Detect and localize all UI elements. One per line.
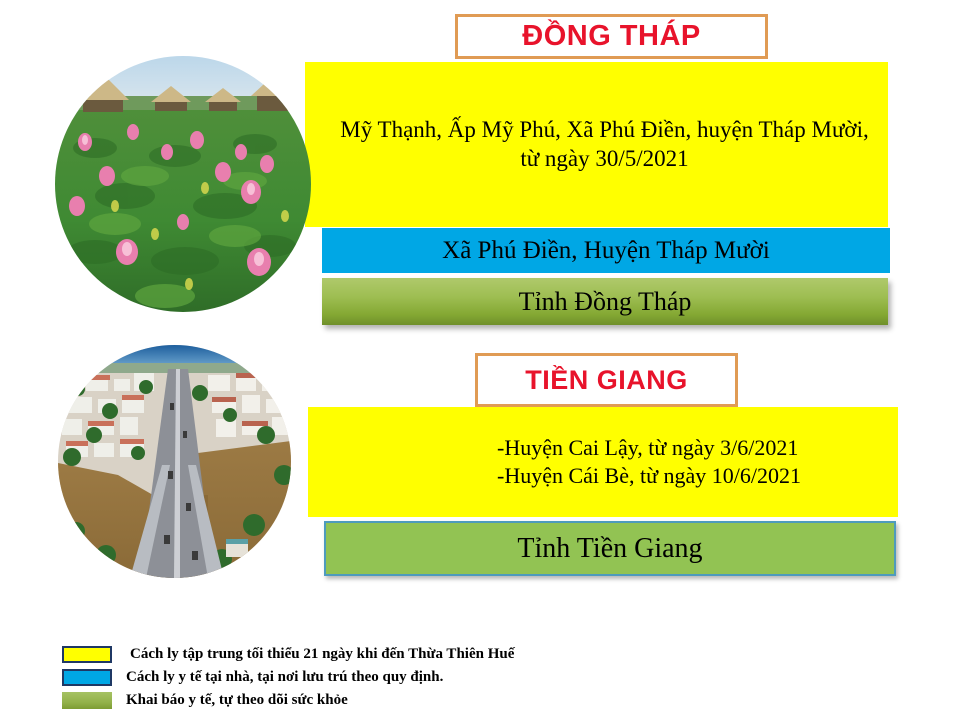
tiengiang-detail-line-1: -Huyện Cai Lậy, từ ngày 3/6/2021: [497, 434, 801, 462]
dongthap-province-label: Tỉnh Đồng Tháp: [519, 287, 692, 317]
dongthap-commune-label: Xã Phú Điền, Huyện Tháp Mười: [442, 237, 770, 265]
lotus-pond-illustration: [55, 56, 311, 312]
city-bridge-aerial-photo: [58, 345, 291, 578]
tiengiang-title-text: TIỀN GIANG: [525, 365, 688, 396]
legend-row: Cách ly y tế tại nhà, tại nơi lưu trú th…: [62, 666, 682, 689]
legend-swatch-blue-icon: [62, 669, 112, 686]
dongthap-title-text: ĐỒNG THÁP: [522, 20, 701, 53]
dongthap-detail-text: Mỹ Thạnh, Ấp Mỹ Phú, Xã Phú Điền, huyện …: [339, 116, 870, 173]
legend-row: Cách ly tập trung tối thiểu 21 ngày khi …: [62, 643, 682, 666]
tiengiang-detail-line-2: -Huyện Cái Bè, từ ngày 10/6/2021: [497, 462, 801, 490]
tiengiang-province-label: Tỉnh Tiền Giang: [517, 533, 702, 565]
legend: Cách ly tập trung tối thiểu 21 ngày khi …: [62, 643, 682, 712]
legend-swatch-green-icon: [62, 692, 112, 709]
city-bridge-illustration: [58, 345, 291, 578]
dongthap-title-plate: ĐỒNG THÁP: [455, 14, 768, 59]
tiengiang-province-bar: Tỉnh Tiền Giang: [324, 521, 896, 576]
tiengiang-detail-panel: -Huyện Cai Lậy, từ ngày 3/6/2021 -Huyện …: [308, 407, 898, 517]
dongthap-province-bar: Tỉnh Đồng Tháp: [322, 278, 888, 325]
legend-swatch-yellow-icon: [62, 646, 112, 663]
legend-label-green: Khai báo y tế, tự theo dõi sức khỏe: [126, 692, 348, 709]
legend-label-yellow: Cách ly tập trung tối thiểu 21 ngày khi …: [130, 646, 514, 663]
dongthap-detail-panel: Mỹ Thạnh, Ấp Mỹ Phú, Xã Phú Điền, huyện …: [305, 62, 888, 227]
tiengiang-title-plate: TIỀN GIANG: [475, 353, 738, 407]
dongthap-commune-bar: Xã Phú Điền, Huyện Tháp Mười: [322, 228, 890, 273]
tiengiang-detail-text: -Huyện Cai Lậy, từ ngày 3/6/2021 -Huyện …: [497, 434, 801, 490]
legend-label-blue: Cách ly y tế tại nhà, tại nơi lưu trú th…: [126, 669, 443, 686]
lotus-pond-photo: [55, 56, 311, 312]
legend-row: Khai báo y tế, tự theo dõi sức khỏe: [62, 689, 682, 712]
